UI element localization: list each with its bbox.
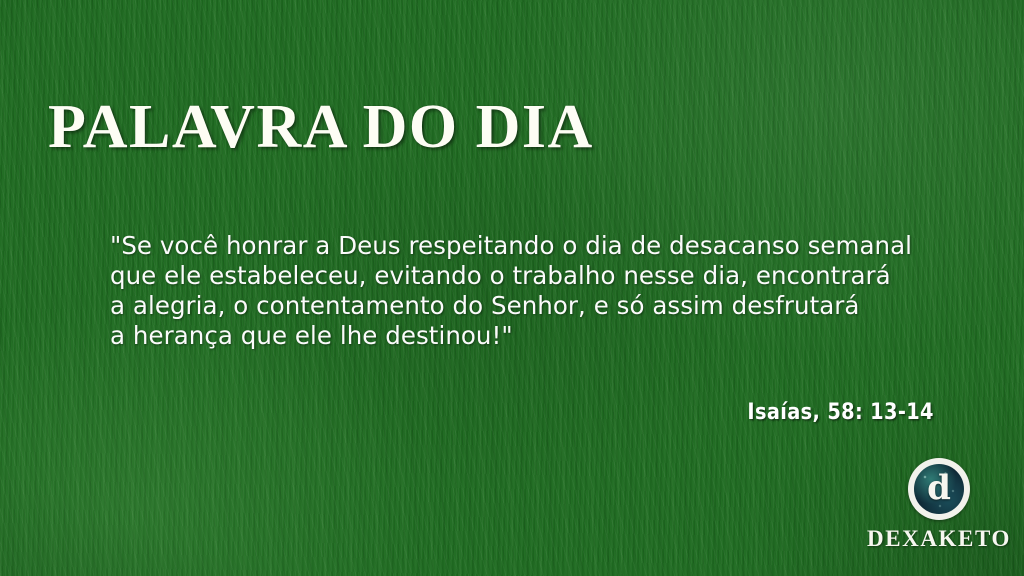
logo-monogram-d: d (927, 471, 951, 505)
quote-line-4: a herança que ele lhe destinou!" (110, 321, 970, 351)
logo-emblem-disc: d (914, 464, 964, 514)
logo-wordmark: DEXAKETO (866, 526, 1012, 552)
slide-content: PALAVRA DO DIA "Se você honrar a Deus re… (0, 0, 1024, 576)
brand-logo: d DEXAKETO (866, 458, 1012, 562)
quote-block: "Se você honrar a Deus respeitando o dia… (110, 231, 970, 351)
logo-emblem-ring: d (908, 458, 970, 520)
page-title: PALAVRA DO DIA (48, 96, 594, 158)
quote-line-2: que ele estabeleceu, evitando o trabalho… (110, 261, 970, 291)
slide-canvas: PALAVRA DO DIA "Se você honrar a Deus re… (0, 0, 1024, 576)
scripture-citation: Isaías, 58: 13-14 (748, 400, 934, 425)
quote-line-3: a alegria, o contentamento do Senhor, e … (110, 291, 970, 321)
quote-line-1: "Se você honrar a Deus respeitando o dia… (110, 231, 970, 261)
